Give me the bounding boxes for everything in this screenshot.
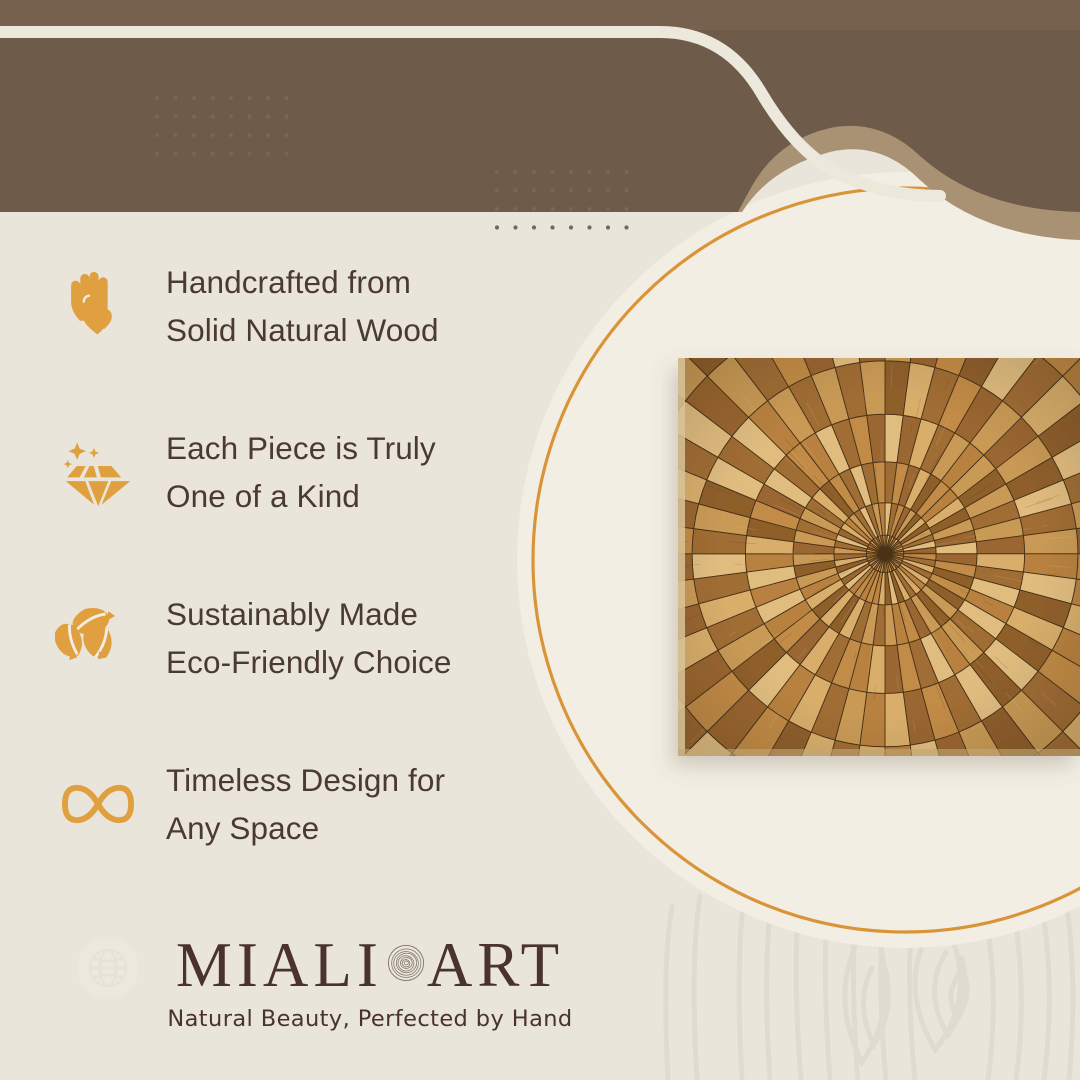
marquetry-segment: [595, 397, 668, 458]
logo-word-left: MIALI: [176, 934, 383, 997]
marquetry-segment: [768, 105, 835, 185]
feature-text: Handcrafted from Solid Natural Wood: [166, 258, 439, 354]
poster-canvas: Handcrafted from Solid Natural Wood: [0, 0, 1080, 1080]
marquetry-segment: [653, 223, 728, 304]
marquetry-segment: [885, 803, 926, 868]
marquetry-segment: [885, 865, 935, 935]
marquetry-segment: [581, 619, 652, 674]
marquetry-segment: [950, 250, 1005, 321]
marquetry-segment: [1005, 826, 1075, 906]
marquetry-segment: [786, 857, 844, 932]
marquetry-segment: [1076, 776, 1080, 856]
marquetry-segment: [1076, 856, 1080, 945]
marquetry-segment: [659, 136, 739, 224]
marquetry-segment: [565, 195, 653, 284]
marquetry-segment: [984, 117, 1058, 202]
marquetry-segment: [844, 239, 885, 304]
tree-ring-icon: [387, 944, 425, 987]
marquetry-segment: [950, 786, 1005, 857]
marquetry-segment: [581, 434, 652, 489]
marquetry-segment: [571, 554, 636, 595]
marquetry-segment: [739, 844, 804, 922]
infinity-icon: [52, 758, 144, 850]
marquetry-segment: [804, 797, 853, 866]
marquetry-segment: [582, 284, 662, 362]
feature-text: Timeless Design for Any Space: [166, 756, 445, 852]
feature-line-1: Timeless Design for: [166, 756, 445, 804]
feature-item-sustainable[interactable]: Sustainably Made Eco-Friendly Choice: [52, 578, 572, 698]
marquetry-segment: [885, 172, 935, 242]
marquetry-segment: [918, 242, 967, 311]
marquetry-segment: [728, 772, 789, 845]
feature-item-handcrafted[interactable]: Handcrafted from Solid Natural Wood: [52, 246, 572, 366]
feature-item-unique[interactable]: Each Piece is Truly One of a Kind: [52, 412, 572, 532]
logo-tagline: Natural Beauty, Perfected by Hand: [150, 1006, 590, 1032]
marquetry-segment: [926, 176, 984, 251]
marquetry-segment: [885, 302, 918, 362]
marquetry-segment: [712, 117, 786, 202]
marquetry-segment: [966, 844, 1031, 922]
marquetry-segment: [1011, 753, 1077, 826]
feature-line-2: Eco-Friendly Choice: [166, 638, 452, 686]
marquetry-segment: [826, 101, 885, 175]
marquetry-segment: [786, 176, 844, 251]
marquetry-segment: [935, 105, 1002, 185]
marquetry-segment: [653, 803, 728, 884]
marquetry-segment: [728, 263, 789, 336]
recycle-leaves-icon: [52, 592, 144, 684]
marquetry-segment: [981, 263, 1042, 336]
marquetry-segment: [1031, 884, 1080, 972]
feature-line-1: Sustainably Made: [166, 590, 452, 638]
marquetry-segment: [610, 856, 695, 945]
marquetry-segment: [1076, 251, 1080, 331]
marquetry-segment: [694, 826, 764, 906]
marquetry-segment: [1042, 803, 1080, 884]
marquetry-segment: [984, 906, 1058, 991]
marquetry-segment: [694, 282, 760, 355]
marquetry-segment: [820, 305, 860, 368]
marquetry-segment: [1031, 136, 1080, 224]
marquetry-segment: [765, 786, 820, 857]
marquetry-segment: [615, 776, 693, 856]
marquetry-segment: [804, 242, 853, 311]
marquetry-segment: [852, 302, 885, 362]
marquetry-segment: [1011, 282, 1077, 355]
marquetry-segment: [739, 185, 804, 263]
marquetry-segment: [966, 185, 1031, 263]
feature-line-1: Each Piece is Truly: [166, 424, 436, 472]
marquetry-segment: [582, 745, 662, 823]
marquetry-segment: [595, 650, 668, 711]
marquetry-segment: [615, 251, 693, 331]
marquetry-segment: [694, 753, 760, 826]
feature-text: Sustainably Made Eco-Friendly Choice: [166, 590, 452, 686]
marquetry-segment: [573, 587, 642, 636]
feature-line-2: Any Space: [166, 804, 445, 852]
marquetry-segment: [765, 250, 820, 321]
marquetry-segment: [935, 922, 1002, 1002]
marquetry-segment: [712, 906, 786, 991]
feature-line-1: Handcrafted from: [166, 258, 439, 306]
marquetry-segment: [885, 101, 944, 175]
marquetry-segment: [926, 857, 984, 932]
marquetry-segment: [571, 513, 636, 554]
feature-text: Each Piece is Truly One of a Kind: [166, 424, 436, 520]
marquetry-segment: [768, 922, 835, 1002]
brand-logo[interactable]: MIALI ART Natural Beauty, Per: [75, 930, 595, 1050]
marquetry-segment: [1042, 223, 1080, 304]
marquetry-segment: [885, 932, 944, 1006]
feature-line-2: Solid Natural Wood: [166, 306, 439, 354]
marquetry-segment: [610, 162, 695, 251]
feature-item-timeless[interactable]: Timeless Design for Any Space: [52, 744, 572, 864]
board-edge-bottom: [678, 749, 1080, 756]
marquetry-segment: [659, 884, 739, 972]
marquetry-segment: [1005, 201, 1075, 281]
feature-list: Handcrafted from Solid Natural Wood: [52, 246, 572, 864]
marquetry-segment: [613, 680, 686, 746]
marquetry-segment: [694, 201, 764, 281]
marquetry-segment: [835, 172, 885, 242]
diamond-sparkle-icon: [52, 426, 144, 518]
marquetry-segment: [613, 362, 686, 428]
marquetry-segment: [1076, 162, 1080, 251]
marquetry-segment: [826, 932, 885, 1006]
marquetry-segment: [835, 865, 885, 935]
board-edge-left: [678, 358, 685, 756]
marquetry-segment: [910, 305, 950, 368]
marquetry-segment: [885, 239, 926, 304]
hand-heart-icon: [52, 260, 144, 352]
feature-line-2: One of a Kind: [166, 472, 436, 520]
logo-word-right: ART: [427, 934, 564, 997]
marquetry-segment: [918, 797, 967, 866]
marquetry-segment: [981, 772, 1042, 845]
marquetry-segment: [565, 824, 653, 913]
logo-wordmark: MIALI ART: [150, 926, 590, 1004]
marquetry-segment: [844, 803, 885, 868]
marquetry-segment: [573, 472, 642, 521]
